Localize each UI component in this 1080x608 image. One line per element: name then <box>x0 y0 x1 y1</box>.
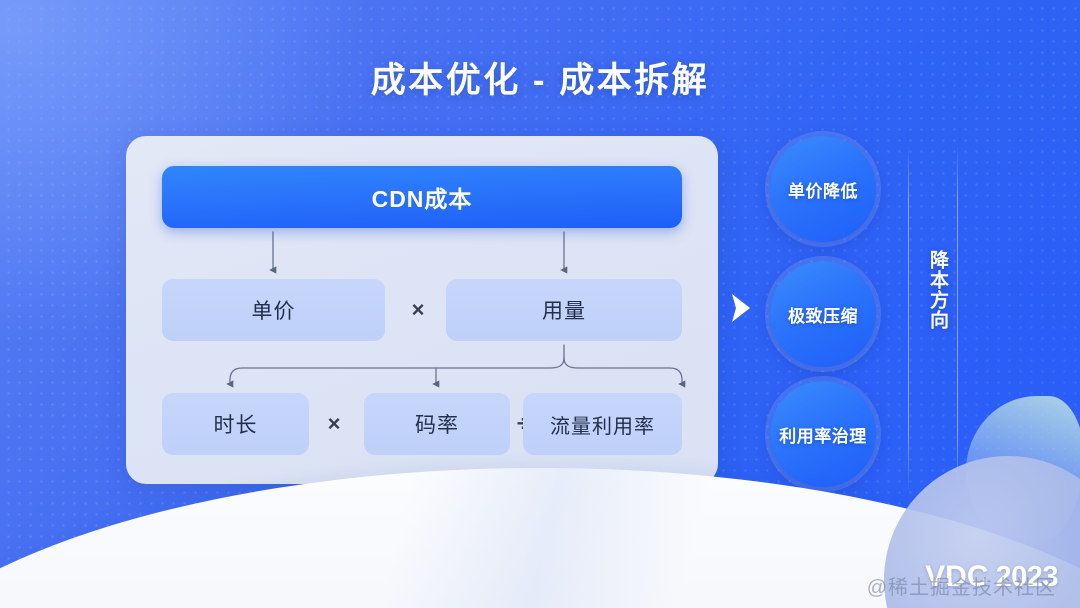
node-usage[interactable]: 用量 <box>446 279 682 341</box>
operator-times-1: × <box>403 295 433 325</box>
rail-line-left <box>908 146 909 490</box>
operator-times-2: × <box>319 409 349 439</box>
slide-title: 成本优化 - 成本拆解 <box>0 52 1080 103</box>
node-cdn-cost[interactable]: CDN成本 <box>162 166 682 228</box>
node-bitrate[interactable]: 码率 <box>364 393 510 455</box>
rail-line-right <box>957 146 958 490</box>
direction-circle-unit-price-reduction[interactable]: 单价降低 <box>770 136 876 242</box>
direction-circle-extreme-compression[interactable]: 极致压缩 <box>770 261 876 367</box>
cost-breakdown-panel: CDN成本 单价 × 用量 时长 × 码率 ÷ 流量利用率 <box>126 136 718 484</box>
cost-reduction-direction-label: 降本方向 <box>924 250 950 330</box>
node-duration[interactable]: 时长 <box>162 393 309 455</box>
node-traffic-utilization[interactable]: 流量利用率 <box>523 393 682 455</box>
direction-circle-utilization-governance[interactable]: 利用率治理 <box>770 381 876 487</box>
node-unit-price[interactable]: 单价 <box>162 279 385 341</box>
flow-arrow-icon <box>730 293 752 323</box>
slide-canvas: 成本优化 - 成本拆解 CDN成本 单 <box>0 0 1080 608</box>
site-watermark: @稀土掘金技术社区 <box>867 571 1056 600</box>
